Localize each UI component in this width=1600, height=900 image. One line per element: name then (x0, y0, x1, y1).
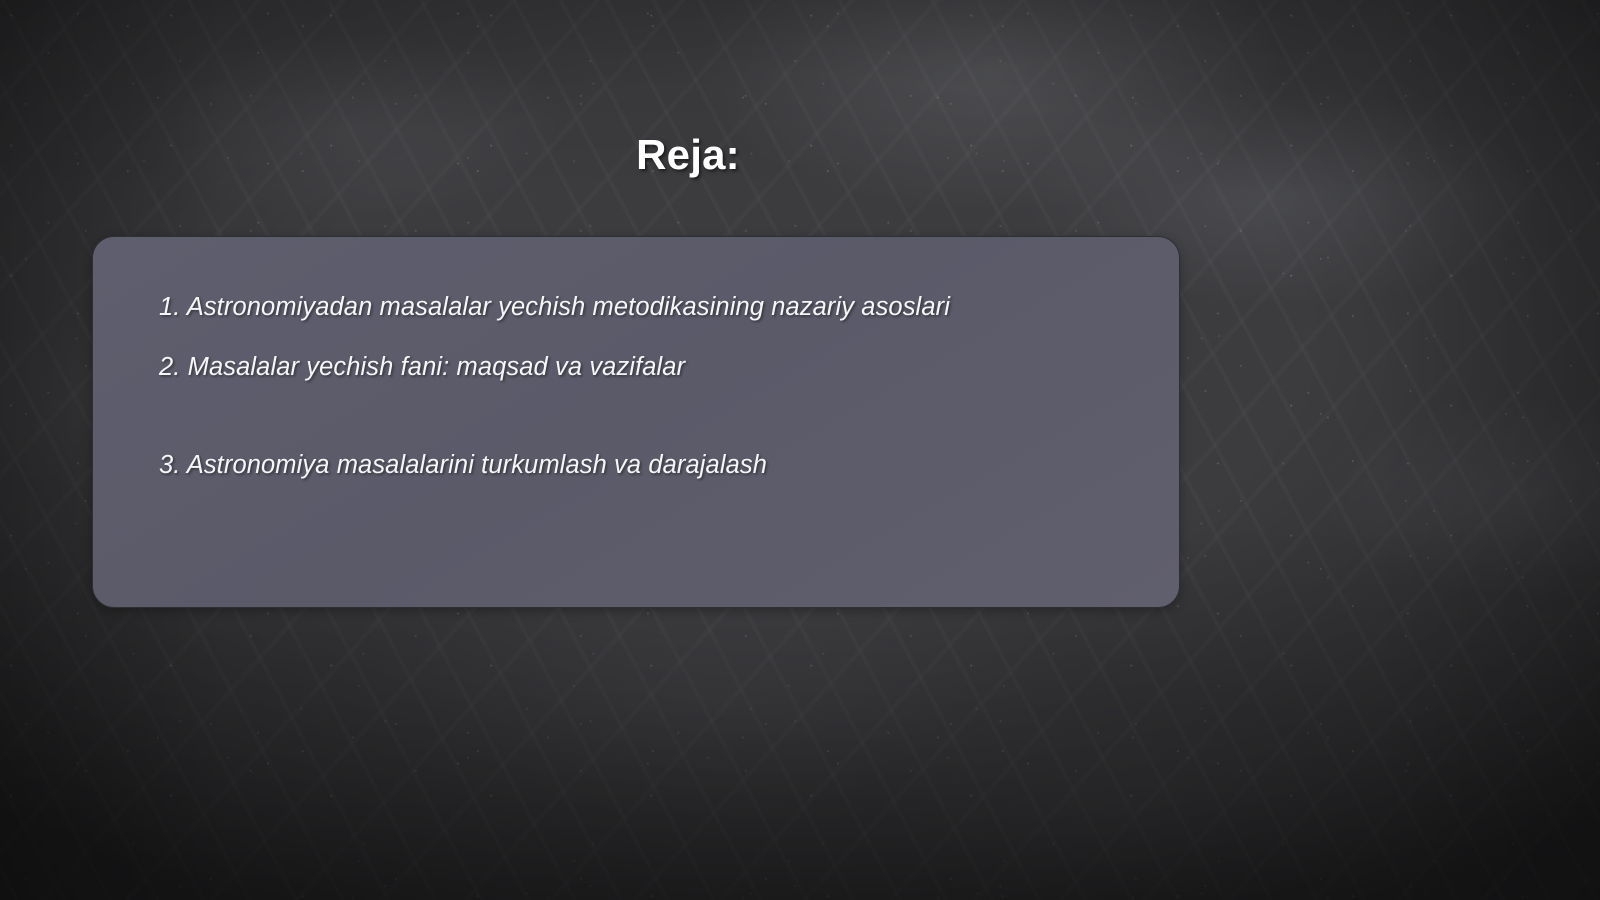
agenda-card: 1. Astronomiyadan masalalar yechish meto… (92, 236, 1180, 608)
agenda-item-1: 1. Astronomiyadan masalalar yechish meto… (159, 287, 1079, 327)
agenda-item-2: 2. Masalalar yechish fani: maqsad va vaz… (159, 347, 1079, 387)
slide-canvas: Reja: 1. Astronomiyadan masalalar yechis… (0, 0, 1600, 900)
agenda-item-3: 3. Astronomiya masalalarini turkumlash v… (159, 445, 1079, 485)
slide-title: Reja: (0, 131, 1376, 179)
agenda-list: 1. Astronomiyadan masalalar yechish meto… (159, 287, 1139, 485)
